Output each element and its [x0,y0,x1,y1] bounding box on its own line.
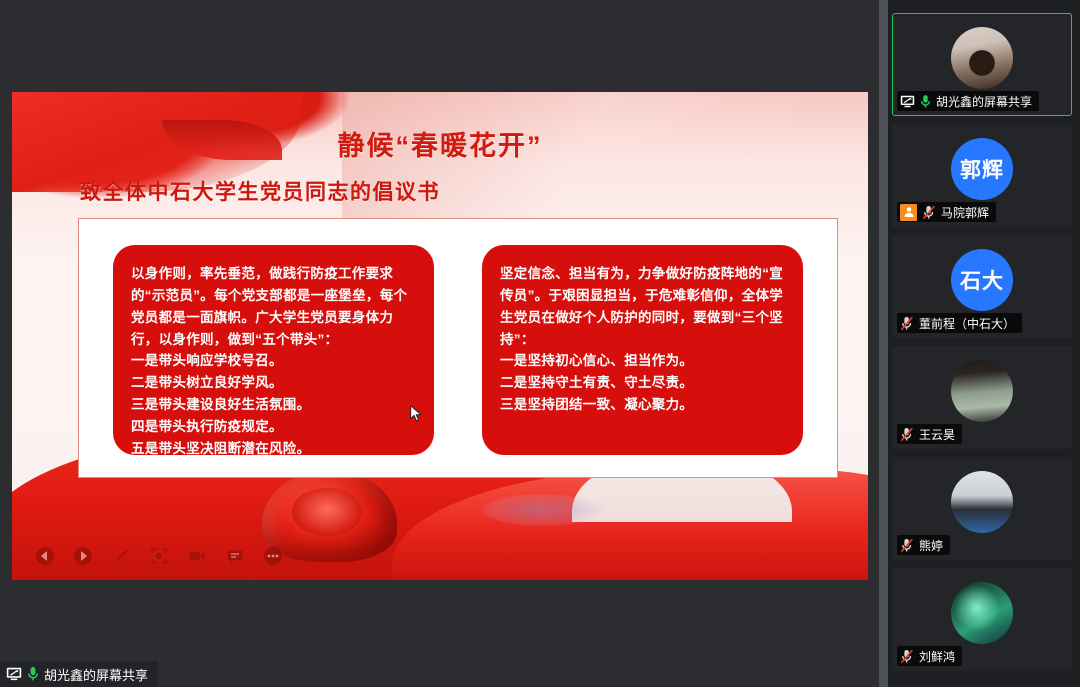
next-slide-button[interactable] [72,545,93,566]
ellipsis-circle-icon [263,546,283,566]
speech-bubble-icon [225,546,245,566]
more-options-button[interactable] [262,545,283,566]
slide-card-right: 坚定信念、担当有为，力争做好防疫阵地的“宣传员”。于艰困显担当，于危难彰信仰，全… [482,245,803,455]
previous-slide-button[interactable] [34,545,55,566]
video-button[interactable] [186,545,207,566]
slide-title: 静候“春暖花开” [12,124,868,163]
participant-tile[interactable]: 王云昊 [892,346,1072,449]
meeting-window: 静候“春暖花开” 致全体中石大学生党员同志的倡议书 以身作则，率先垂范，做践行防… [0,0,1080,687]
participant-name: 马院郭辉 [941,204,989,221]
microphone-muted-icon [900,649,914,664]
slide-content-panel: 以身作则，率先垂范，做践行防疫工作要求的“示范员”。每个党支部都是一座堡垒，每个… [78,218,838,478]
participant-tile[interactable]: 熊婷 [892,457,1072,560]
microphone-muted-icon [900,427,914,442]
avatar [951,471,1013,533]
captions-button[interactable] [224,545,245,566]
avatar [951,27,1013,89]
participant-name-bar: 王云昊 [897,424,962,444]
participant-strip[interactable]: 胡光鑫的屏幕共享 郭辉 [888,0,1080,687]
participant-name: 董前程（中石大） [919,315,1015,332]
pen-icon [111,546,131,566]
slide-subtitle: 致全体中石大学生党员同志的倡议书 [80,176,440,206]
avatar [951,360,1013,422]
participant-tile[interactable]: 胡光鑫的屏幕共享 [892,13,1072,116]
petal-decoration [482,494,602,526]
participant-name-bar: 熊婷 [897,535,950,555]
slide-cards: 以身作则，率先垂范，做践行防疫工作要求的“示范员”。每个党支部都是一座堡垒，每个… [79,219,837,477]
video-camera-icon [187,546,207,566]
mouse-cursor [410,405,422,423]
participant-name-bar: 刘鲜鸿 [897,646,962,666]
screen-share-icon [6,667,22,681]
participant-name-bar: 胡光鑫的屏幕共享 [897,91,1039,111]
participant-tile[interactable]: 郭辉 马院郭辉 [892,124,1072,227]
chevron-right-circle-icon [73,546,93,566]
participant-tile[interactable]: 刘鲜鸿 [892,568,1072,671]
person-icon [900,204,917,221]
participant-name: 刘鲜鸿 [919,648,955,665]
panel-divider-scrollbar[interactable] [879,0,888,687]
microphone-muted-icon [900,538,914,553]
participant-name: 胡光鑫的屏幕共享 [936,93,1032,110]
microphone-muted-icon [900,316,914,331]
microphone-icon [920,94,931,109]
presentation-toolbar [34,545,283,566]
participant-tile[interactable]: 石大 董前程（中石大） [892,235,1072,338]
avatar-initials: 石大 [951,249,1013,311]
avatar-initials: 郭辉 [951,138,1013,200]
microphone-icon [27,666,39,682]
participant-name-bar: 马院郭辉 [897,202,996,222]
presentation-slide: 静候“春暖花开” 致全体中石大学生党员同志的倡议书 以身作则，率先垂范，做践行防… [12,92,868,580]
chevron-left-circle-icon [35,546,55,566]
shared-screen-area: 静候“春暖花开” 致全体中石大学生党员同志的倡议书 以身作则，率先垂范，做践行防… [0,0,879,687]
screen-share-label-text: 胡光鑫的屏幕共享 [44,665,148,684]
screen-share-label: 胡光鑫的屏幕共享 [0,661,158,687]
participant-name: 王云昊 [919,426,955,443]
slide-card-left: 以身作则，率先垂范，做践行防疫工作要求的“示范员”。每个党支部都是一座堡垒，每个… [113,245,434,455]
participant-name: 熊婷 [919,537,943,554]
screen-share-icon [900,95,915,108]
participant-name-bar: 董前程（中石大） [897,313,1022,333]
laser-pointer-button[interactable] [148,545,169,566]
pen-button[interactable] [110,545,131,566]
avatar [951,582,1013,644]
laser-pointer-icon [149,546,169,566]
microphone-muted-icon [922,205,936,220]
